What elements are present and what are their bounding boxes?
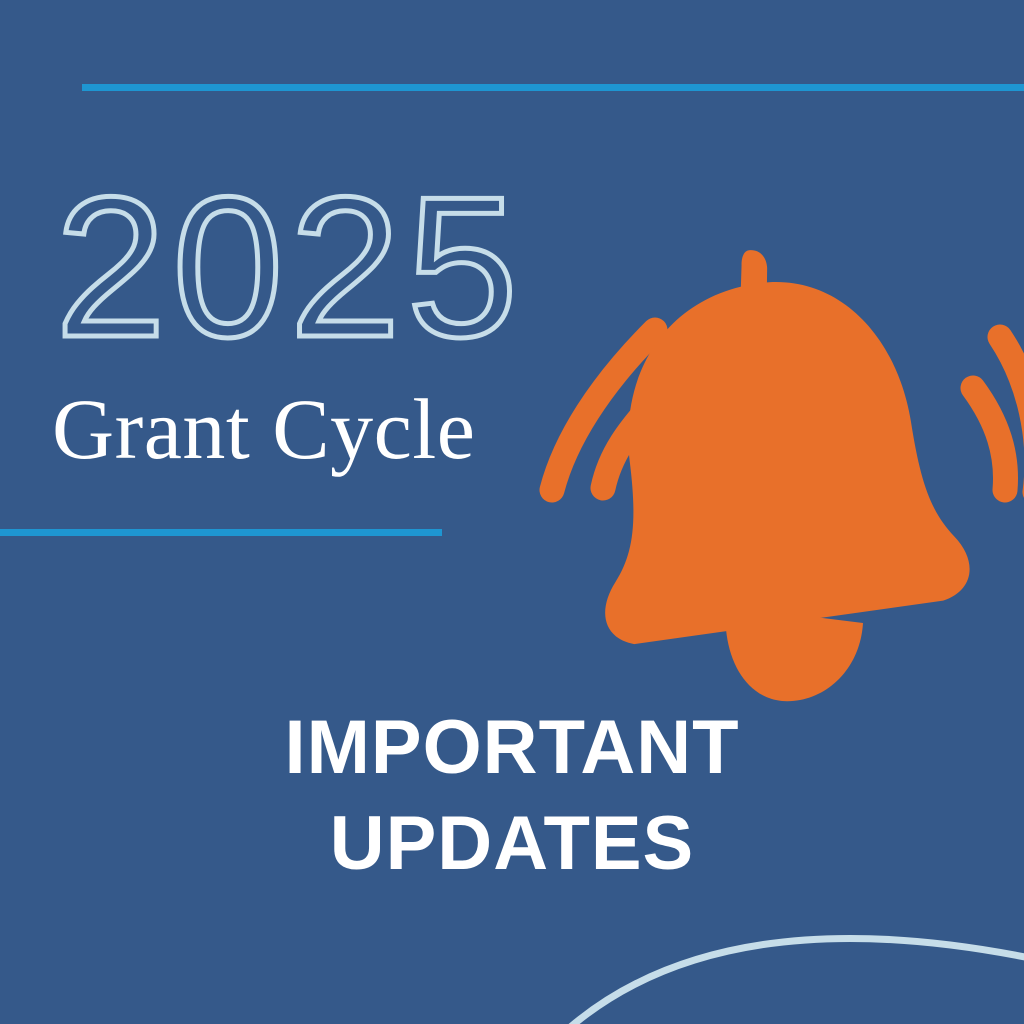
year-outline-text: 2025: [55, 168, 524, 368]
callout-line-2: UPDATES: [0, 796, 1024, 892]
top-cyan-rule: [82, 84, 1024, 91]
poster-canvas: 2025 Grant Cycle: [0, 0, 1024, 1024]
bottom-arc-decoration: [560, 880, 1024, 1024]
callout-line-1: IMPORTANT: [0, 700, 1024, 796]
bell-illustration: [530, 240, 1024, 680]
subtitle-grant-cycle: Grant Cycle: [52, 386, 475, 472]
mid-cyan-rule: [0, 529, 442, 536]
callout-headline: IMPORTANT UPDATES: [0, 700, 1024, 892]
pale-blue-arc-icon: [560, 880, 1024, 1024]
ringing-bell-icon: [530, 240, 1024, 680]
